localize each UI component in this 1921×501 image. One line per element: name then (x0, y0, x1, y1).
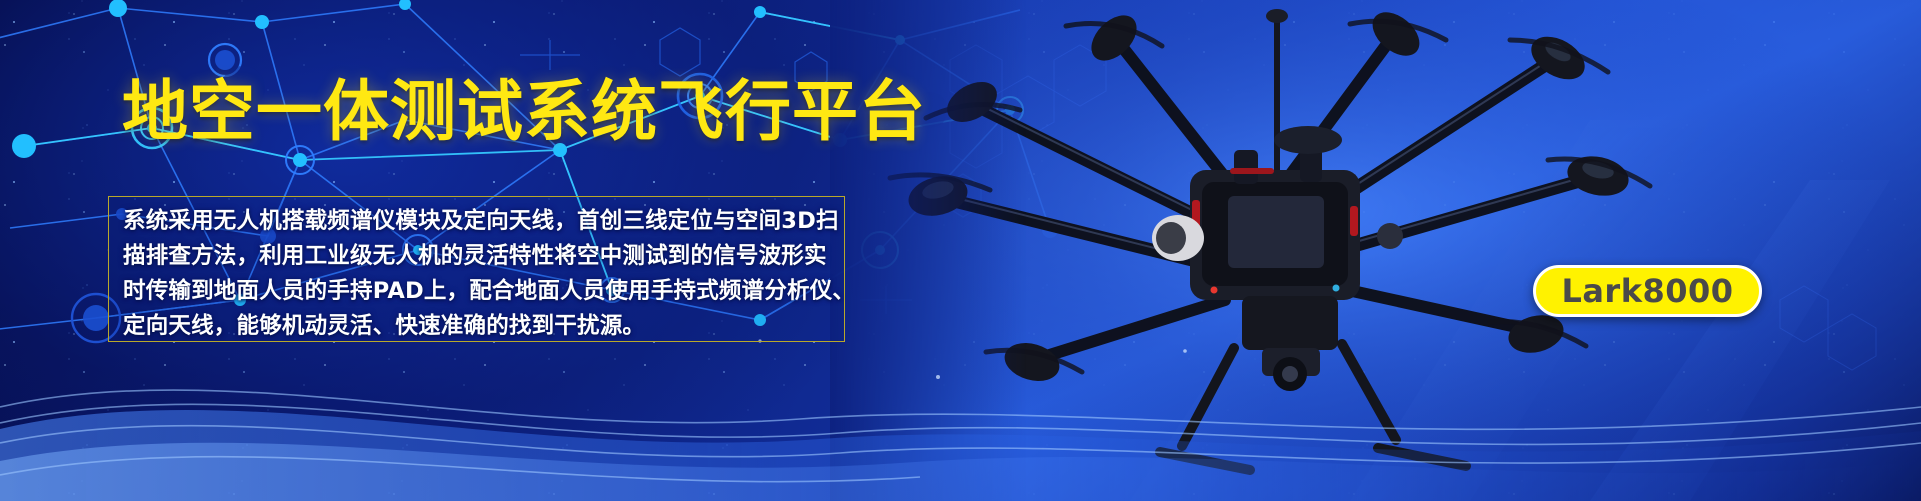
description-line: 描排查方法，利用工业级无人机的灵活特性将空中测试到的信号波形实 (123, 239, 830, 274)
page-title: 地空一体测试系统飞行平台 (122, 76, 926, 148)
description-line: 定向天线，能够机动灵活、快速准确的找到干扰源。 (123, 309, 830, 344)
description-line: 系统采用无人机搭载频谱仪模块及定向天线，首创三线定位与空间3D扫 (123, 204, 830, 239)
description-box: 系统采用无人机搭载频谱仪模块及定向天线，首创三线定位与空间3D扫 描排查方法，利… (108, 196, 845, 342)
description-line: 时传输到地面人员的手持PAD上，配合地面人员使用手持式频谱分析仪、 (123, 274, 830, 309)
product-model-badge: Lark8000 (1533, 265, 1762, 317)
product-banner: 地空一体测试系统飞行平台 系统采用无人机搭载频谱仪模块及定向天线，首创三线定位与… (0, 0, 1921, 501)
product-model-label: Lark8000 (1561, 275, 1733, 307)
